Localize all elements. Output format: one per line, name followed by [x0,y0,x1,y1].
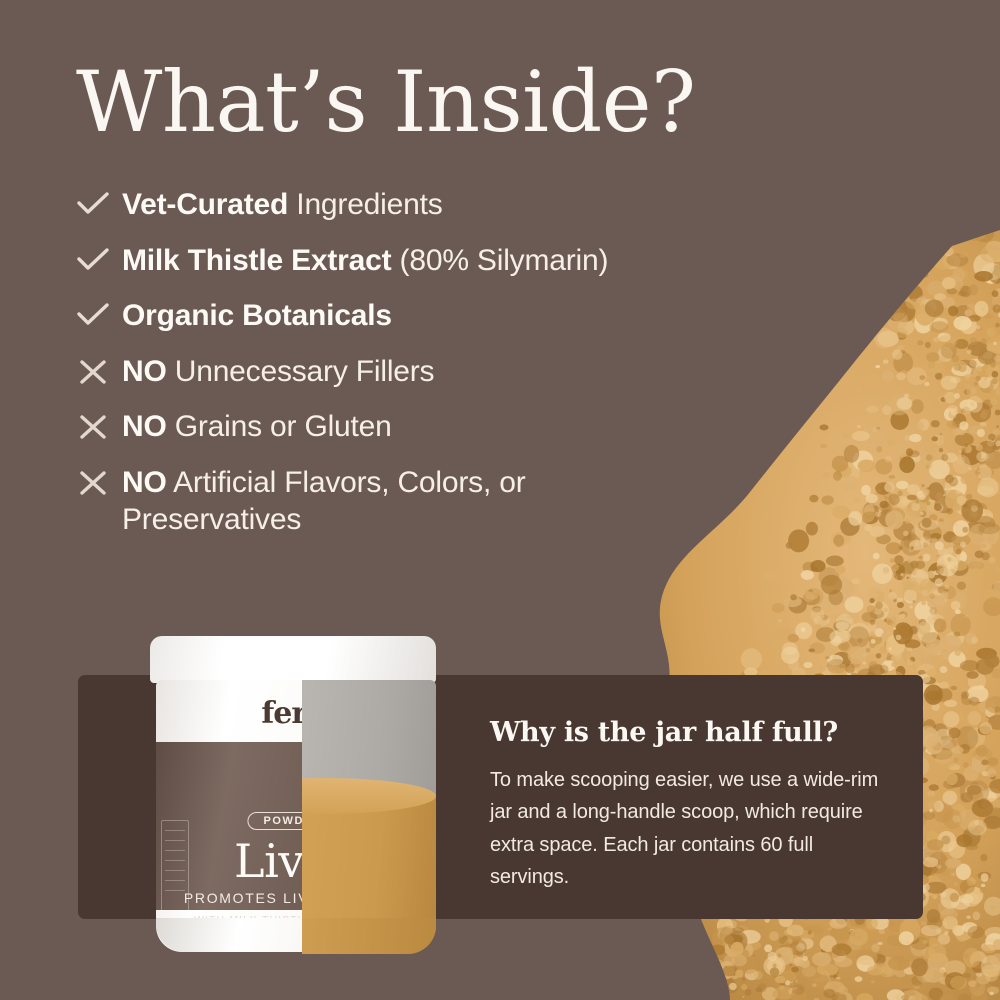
jar-lid [150,636,436,683]
list-item-emphasis: NO [122,355,167,388]
list-item-text: NO Unnecessary Fillers [122,353,434,391]
list-item: NO Artificial Flavors, Colors, or Preser… [76,464,836,538]
cross-icon [76,353,122,386]
list-item-emphasis: Milk Thistle Extract [122,244,391,277]
list-item-text: Milk Thistle Extract (80% Silymarin) [122,242,608,280]
list-item: NO Grains or Gluten [76,408,836,446]
list-item-rest: Grains or Gluten [167,410,392,443]
list-item: Vet-Curated Ingredients [76,186,836,224]
page-title: What’s Inside? [76,58,696,146]
list-item-rest: Unnecessary Fillers [167,355,435,388]
list-item-emphasis: NO [122,466,167,499]
list-item: NO Unnecessary Fillers [76,353,836,391]
check-icon [76,186,122,219]
list-item-rest: Artificial Flavors, Colors, or Preservat… [122,466,526,536]
info-card-body: To make scooping easier, we use a wide-r… [490,764,880,894]
list-item: Organic Botanicals [76,297,836,335]
promo-graphic: What’s Inside? Vet-Curated Ingredients M… [0,0,1000,1000]
check-icon [76,297,122,330]
list-item: Milk Thistle Extract (80% Silymarin) [76,242,836,280]
list-item-emphasis: Organic Botanicals [122,299,392,332]
list-item-text: NO Artificial Flavors, Colors, or Preser… [122,464,682,538]
list-item-emphasis: NO [122,410,167,443]
jar-cutaway-view [302,680,436,952]
list-item-text: Organic Botanicals [122,297,392,335]
list-item-emphasis: Vet-Curated [122,188,288,221]
list-item-text: NO Grains or Gluten [122,408,392,446]
cross-icon [76,464,122,497]
jar-cutaway-base [302,918,436,954]
check-icon [76,242,122,275]
info-card-title: Why is the jar half full? [490,717,880,748]
cross-icon [76,408,122,441]
info-card-content: Why is the jar half full? To make scoopi… [490,717,880,894]
list-item-text: Vet-Curated Ingredients [122,186,443,224]
list-item-rest: Ingredients [288,188,442,221]
ingredient-checklist: Vet-Curated Ingredients Milk Thistle Ext… [76,186,836,556]
product-jar-image: fera POWDER Liver PROMOTES LIVER HEALTH … [142,636,444,961]
list-item-rest: (80% Silymarin) [391,244,608,277]
